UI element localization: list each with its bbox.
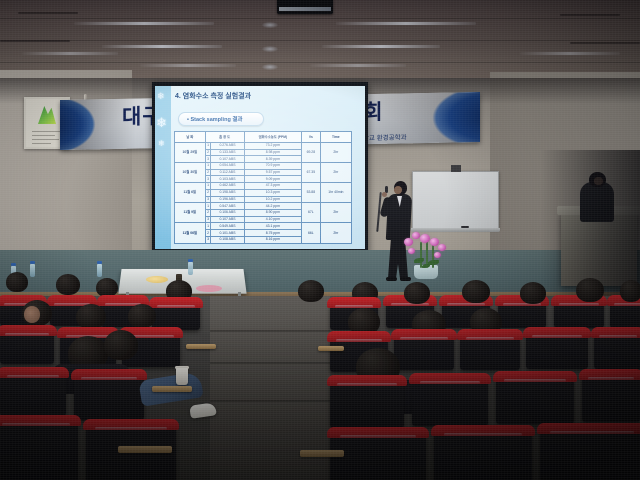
cell-ppm: 44.2 ppm	[244, 203, 302, 210]
orchid-bloom	[404, 238, 413, 246]
audience-head	[462, 280, 490, 303]
cell-abs: 0.101 ABS	[211, 230, 244, 237]
seat-armrest	[118, 446, 172, 453]
audience-head	[76, 304, 106, 329]
audience-head	[104, 330, 138, 360]
seat-armrest	[318, 346, 344, 351]
cell-ppm: 10.3 ppm	[244, 189, 302, 196]
orchid-bloom	[434, 252, 441, 258]
poster-text-lines	[32, 128, 62, 147]
cell-abs: 0.198 ABS	[211, 189, 244, 196]
cell-abs: 0.549 ABS	[211, 223, 244, 230]
seat[interactable]	[434, 430, 532, 480]
cell-vs: 53.88	[302, 183, 321, 203]
cell-date: 11월 06일	[175, 223, 206, 243]
coffee-cup	[176, 368, 188, 385]
cell-abs: 0.547 ABS	[211, 203, 244, 210]
presenter-face	[394, 186, 402, 194]
bottle-cap	[188, 259, 193, 262]
slide-bullet-chip: • Stack sampling 결과	[178, 112, 264, 126]
presenter-shoe	[386, 277, 397, 281]
whiteboard	[412, 171, 499, 229]
podium	[561, 212, 637, 286]
seat[interactable]	[394, 334, 454, 370]
water-bottle	[30, 264, 35, 277]
cell-abs: 0.106 ABS	[211, 209, 244, 216]
cell-ppm: 43.1 ppm	[244, 223, 302, 230]
cell-abs: 0.112 ABS	[211, 169, 244, 176]
seat[interactable]	[498, 300, 546, 328]
seat[interactable]	[0, 372, 66, 416]
cell-ppm: 10.2 ppm	[244, 196, 302, 203]
seat[interactable]	[540, 428, 640, 480]
bottle-cap	[30, 261, 35, 264]
seat[interactable]	[0, 330, 54, 364]
cell-abs: 0.054 ABS	[211, 162, 244, 169]
cell-abs: 0.196 ABS	[211, 196, 244, 203]
orchid-bloom	[438, 244, 446, 251]
presentation-slide: ❄ ❄ ❄ 4. 염화수소 측정 실험결과 • Stack sampling 결…	[155, 86, 365, 249]
ceiling-light-panel	[336, 22, 476, 25]
snowflake-icon: ❄	[157, 92, 165, 101]
cell-abs: 0.133 ABS	[211, 149, 244, 156]
cell-date: 11월 9일	[175, 203, 206, 223]
audience-head	[576, 278, 604, 302]
audience-head	[128, 304, 156, 328]
seat-armrest	[186, 344, 216, 349]
table-header-row: 날 짜 흡 광 도 염화수소농도 (PPM) Vs Time	[175, 132, 352, 143]
audience-head	[404, 282, 430, 304]
seat[interactable]	[412, 378, 488, 426]
whiteboard-tray	[411, 228, 500, 232]
auditorium-photo: 대구대 발표회 대구 발표회 일시 : 2009. 11. 20(금) 대구대학…	[0, 0, 640, 480]
cell-ppm: 73.2 ppm	[244, 142, 302, 149]
cell-ppm: 9.57 ppm	[244, 169, 302, 176]
ceiling-light-panel	[74, 22, 214, 25]
cell-vs: 67.35	[302, 162, 321, 182]
cell-date: 10월 30일	[175, 162, 206, 182]
water-bottle	[188, 262, 193, 275]
slide-bullet-label: • Stack sampling 결과	[187, 115, 242, 123]
seat-armrest	[300, 450, 344, 457]
projector-lens-glow	[262, 46, 278, 52]
projector-lens-glow	[262, 64, 278, 70]
seat[interactable]	[330, 432, 426, 480]
cell-ppm: 4.10 ppm	[244, 216, 302, 223]
seat[interactable]	[74, 374, 144, 420]
th-vs: Vs	[302, 132, 321, 143]
th-time: Time	[320, 132, 351, 143]
seat[interactable]	[526, 332, 588, 369]
cell-abs: 0.107 ABS	[211, 216, 244, 223]
cell-time: 2hr	[320, 203, 351, 223]
bottle-cap	[11, 263, 16, 266]
cell-date: 10월 29일	[175, 142, 206, 162]
slide-sidebar	[155, 86, 171, 249]
ceiling-light-panel	[310, 64, 406, 67]
cell-abs: 0.107 ABS	[211, 156, 244, 163]
th-date: 날 짜	[175, 132, 206, 143]
audience-head	[56, 274, 80, 295]
seat[interactable]	[152, 302, 200, 330]
ceiling-light-panel	[102, 45, 222, 48]
cell-ppm: 70.9 ppm	[244, 162, 302, 169]
cell-abs: 0.462 ABS	[211, 183, 244, 190]
cell-ppm: 8.75 ppm	[244, 230, 302, 237]
snack-plate	[146, 276, 168, 283]
cell-vs: 67L	[302, 203, 321, 223]
th-absorbance: 흡 광 도	[205, 132, 244, 143]
th-concentration: 염화수소농도 (PPM)	[244, 132, 302, 143]
seat[interactable]	[554, 300, 604, 328]
orchid-bloom	[412, 232, 420, 239]
orchid-bloom	[408, 248, 415, 254]
cell-time: 1hr 40min	[320, 183, 351, 203]
seat-armrest	[152, 386, 192, 392]
snowflake-icon: ❄	[156, 116, 167, 129]
cell-abs: 0.103 ABS	[211, 176, 244, 183]
cell-ppm: 47.3 ppm	[244, 183, 302, 190]
orchid-bloom	[420, 234, 430, 243]
audience-head	[6, 272, 28, 292]
table-row: 11월 6일 1 0.462 ABS 47.3 ppm 53.88 1hr 40…	[175, 183, 352, 190]
table-row: 11월 06일 1 0.549 ABS 43.1 ppm 66L 2hr	[175, 223, 352, 230]
whiteboard-marker	[461, 226, 469, 228]
seat[interactable]	[0, 420, 78, 480]
pink-cloth	[196, 285, 222, 292]
table-row: 10월 29일 1 0.276 ABS 73.2 ppm 69.28 2hr	[175, 142, 352, 149]
seat[interactable]	[496, 376, 574, 424]
cell-abs: 0.108 ABS	[211, 236, 244, 243]
cell-time: 2hr	[320, 142, 351, 162]
cell-vs: 69.28	[302, 142, 321, 162]
ceiling-light-panel	[520, 52, 620, 55]
cell-ppm: 8.90 ppm	[244, 209, 302, 216]
cell-ppm: 8.98 ppm	[244, 149, 302, 156]
ceiling-light-panel	[140, 64, 236, 67]
presenter-shoe	[400, 277, 411, 281]
leaf-logo-icon	[38, 106, 56, 124]
cell-date: 11월 6일	[175, 183, 206, 203]
slide-title: 4. 염화수소 측정 실험결과	[175, 91, 251, 101]
cell-ppm: 8.39 ppm	[244, 156, 302, 163]
ceiling-light-panel	[322, 45, 440, 48]
projector-lens-glow	[262, 22, 278, 28]
cell-ppm: 8.16 ppm	[244, 236, 302, 243]
table-body: 10월 29일 1 0.276 ABS 73.2 ppm 69.28 2hr 2…	[175, 142, 352, 243]
cell-vs: 66L	[302, 223, 321, 243]
seat[interactable]	[330, 380, 404, 428]
seat[interactable]	[594, 332, 640, 369]
audience-face	[24, 306, 40, 323]
ceiling-light-panel	[22, 52, 118, 55]
table-row: 10월 30일 1 0.054 ABS 70.9 ppm 67.35 2hr	[175, 162, 352, 169]
cell-ppm: 9.09 ppm	[244, 176, 302, 183]
presenter-hand	[382, 192, 387, 197]
cell-time: 2hr	[320, 223, 351, 243]
bottle-cap	[97, 261, 102, 264]
seat[interactable]	[582, 374, 640, 422]
cell-abs: 0.276 ABS	[211, 142, 244, 149]
water-bottle	[97, 264, 102, 277]
seat[interactable]	[610, 300, 640, 328]
measurement-table: 날 짜 흡 광 도 염화수소농도 (PPM) Vs Time 10월 29일 1…	[174, 131, 352, 244]
snowflake-icon: ❄	[158, 140, 165, 148]
seat[interactable]	[460, 334, 520, 370]
projection-screen: ❄ ❄ ❄ 4. 염화수소 측정 실험결과 • Stack sampling 결…	[152, 82, 368, 254]
podium-operator-body	[580, 182, 614, 222]
audience-head	[620, 280, 640, 302]
ceiling-projector	[277, 0, 333, 14]
audience-head	[298, 280, 324, 302]
table-row: 11월 9일 1 0.547 ABS 44.2 ppm 67L 2hr	[175, 203, 352, 210]
whiteboard-mount	[451, 165, 461, 172]
podium-operator-face	[594, 177, 603, 185]
audience-head	[520, 282, 546, 304]
cell-time: 2hr	[320, 162, 351, 182]
